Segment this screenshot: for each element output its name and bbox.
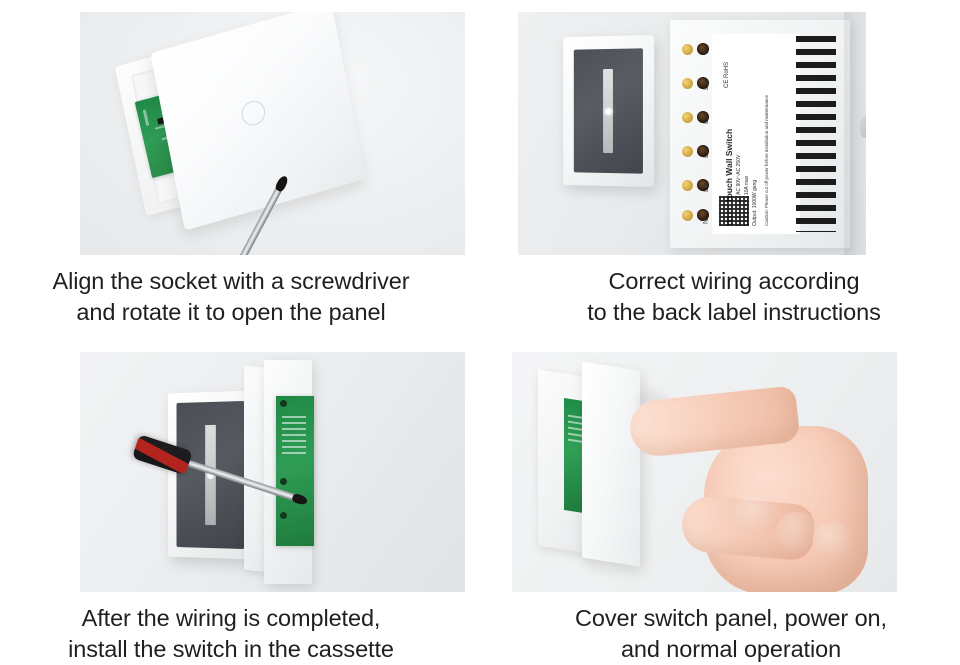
- terminal-screw: [682, 210, 693, 221]
- step-3-photo: [80, 352, 465, 592]
- step-3: After the wiring is completed, install t…: [0, 352, 462, 665]
- terminal-screw: [682, 78, 693, 89]
- pcb-pad: [280, 400, 287, 407]
- step-1: Align the socket with a screwdriver and …: [0, 12, 462, 329]
- step-2-photo: L L1 L2 L3 L4 N Wi-Fi Touch Wall Switch …: [518, 12, 866, 255]
- pcb-pin: [282, 416, 306, 418]
- step-2: L L1 L2 L3 L4 N Wi-Fi Touch Wall Switch …: [498, 12, 960, 329]
- product-back-label: Wi-Fi Touch Wall Switch Input voltage: A…: [712, 34, 800, 234]
- touch-indicator-dot: [605, 107, 612, 114]
- terminal-label-L3: L3: [703, 150, 710, 158]
- terminal-screw: [682, 180, 693, 191]
- pcb-pin: [282, 440, 306, 442]
- switch-faceplate: [168, 391, 253, 560]
- step-4: Cover switch panel, power on, and normal…: [498, 352, 960, 665]
- pcb-pin: [282, 452, 306, 454]
- label-output-spec: Output: 1000W gang: [752, 180, 758, 226]
- knuckle: [812, 522, 852, 560]
- step-1-caption: Align the socket with a screwdriver and …: [0, 255, 462, 329]
- pcb-pin: [282, 434, 306, 436]
- pcb-pad: [280, 478, 287, 485]
- switch-front-face: [563, 35, 654, 187]
- ventilation-slots: [796, 36, 836, 232]
- pcb-pin: [282, 446, 306, 448]
- hand-illustration: [630, 372, 882, 592]
- step-4-caption: Cover switch panel, power on, and normal…: [498, 592, 960, 665]
- pcb-pin: [282, 428, 306, 430]
- circuit-board: [276, 396, 314, 546]
- label-warning-text: Caution: Please cut off power before ins…: [764, 95, 769, 226]
- terminal-label-L: L: [703, 50, 710, 54]
- step-4-photo: [512, 352, 897, 592]
- switch-rear-housing: L L1 L2 L3 L4 N Wi-Fi Touch Wall Switch …: [670, 20, 850, 248]
- terminal-screw: [682, 44, 693, 55]
- step-1-photo: [80, 12, 465, 255]
- installation-guide: Align the socket with a screwdriver and …: [0, 0, 960, 665]
- terminal-label-N: N: [703, 219, 710, 224]
- pcb-pin: [282, 422, 306, 424]
- step-3-caption: After the wiring is completed, install t…: [0, 592, 462, 665]
- terminal-label-L1: L1: [703, 82, 710, 90]
- step-2-caption: Correct wiring according to the back lab…: [498, 255, 960, 329]
- mounting-knob: [860, 116, 866, 138]
- knuckle: [734, 494, 780, 534]
- pcb-trace: [143, 110, 149, 126]
- terminal-label-L2: L2: [703, 116, 710, 124]
- terminal-screw: [682, 146, 693, 157]
- terminal-screw: [682, 112, 693, 123]
- label-certifications: CE RoHS: [724, 62, 730, 88]
- terminal-label-L4: L4: [703, 184, 710, 192]
- qr-code-icon: [719, 196, 749, 226]
- pcb-pad: [280, 512, 287, 519]
